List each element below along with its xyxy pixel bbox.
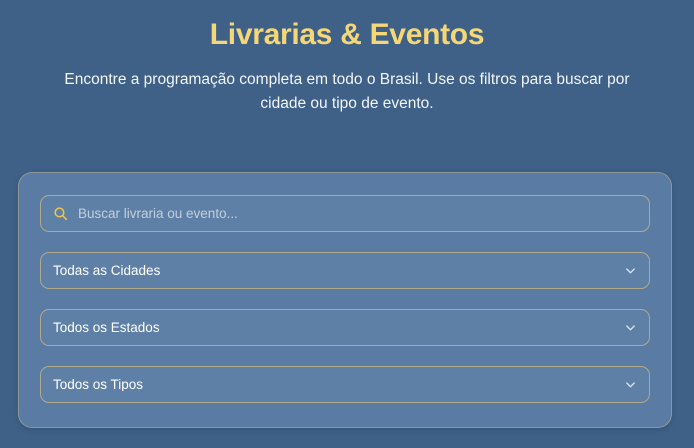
page-header: Livrarias & Eventos Encontre a programaç… [0,0,694,116]
select-state[interactable]: Todos os Estados [40,309,650,346]
search-row [40,195,650,232]
chevron-down-icon [624,321,637,334]
search-icon [53,206,68,221]
select-type-label: Todos os Tipos [53,378,616,392]
page-subtitle: Encontre a programação completa em todo … [32,68,662,116]
city-filter-row: Todas as Cidades [40,252,650,289]
page-root: Livrarias & Eventos Encontre a programaç… [0,0,694,448]
select-state-label: Todos os Estados [53,321,616,335]
select-type[interactable]: Todos os Tipos [40,366,650,403]
select-city[interactable]: Todas as Cidades [40,252,650,289]
state-filter-row: Todos os Estados [40,309,650,346]
filters-card: Todas as Cidades Todos os Estados [18,172,672,428]
chevron-down-icon [624,378,637,391]
search-field[interactable] [40,195,650,232]
page-title: Livrarias & Eventos [0,16,694,54]
search-input[interactable] [78,196,637,231]
type-filter-row: Todos os Tipos [40,366,650,403]
select-city-label: Todas as Cidades [53,264,616,278]
chevron-down-icon [624,264,637,277]
